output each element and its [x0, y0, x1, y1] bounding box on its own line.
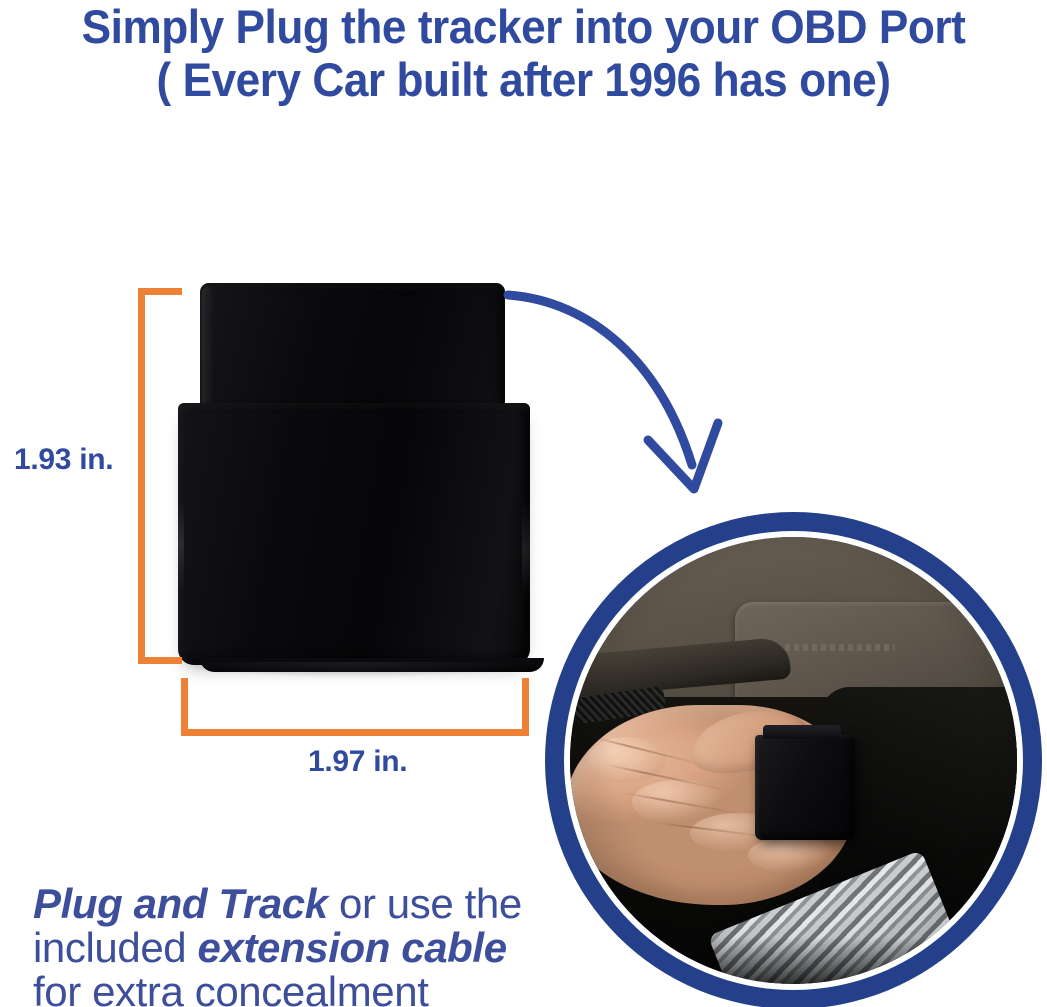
photo-vignette	[570, 537, 1017, 984]
infographic-canvas: Simply Plug the tracker into your OBD Po…	[0, 0, 1047, 1007]
height-dimension-label: 1.93 in.	[14, 443, 113, 477]
caption-line-2: included extension cable	[33, 926, 633, 970]
install-photo	[570, 537, 1017, 984]
caption-emphasis-plug-and-track: Plug and Track	[33, 880, 328, 927]
caption-line-1-rest: or use the	[328, 880, 522, 927]
headline-line-2: ( Every Car built after 1996 has one)	[31, 52, 1015, 105]
width-bracket	[181, 678, 529, 736]
device-drop-shadow	[174, 662, 534, 678]
page-title: Simply Plug the tracker into your OBD Po…	[31, 0, 1015, 105]
device-connector-section	[200, 283, 505, 411]
caption-line-1: Plug and Track or use the	[33, 882, 633, 926]
headline-line-1: Simply Plug the tracker into your OBD Po…	[31, 0, 1015, 52]
caption-line-3: for extra concealment	[33, 970, 633, 1007]
caption-emphasis-extension-cable: extension cable	[198, 924, 507, 971]
device-main-body	[178, 403, 530, 665]
caption-text: Plug and Track or use the included exten…	[33, 882, 633, 1007]
curved-down-right-arrow-icon	[480, 265, 750, 515]
caption-line-2-pre: included	[33, 924, 198, 971]
height-bracket	[138, 288, 182, 664]
width-dimension-label: 1.97 in.	[308, 745, 407, 779]
